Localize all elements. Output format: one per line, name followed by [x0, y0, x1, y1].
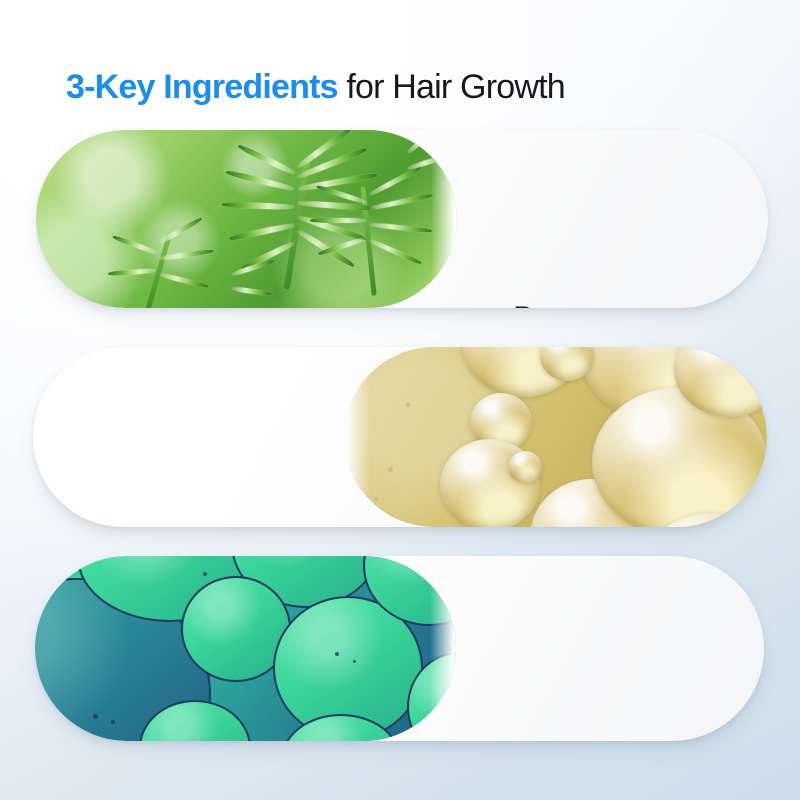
anagain-image — [35, 556, 456, 741]
title-rest: for Hair Growth — [338, 68, 565, 106]
rosemary-image — [36, 130, 457, 308]
infographic-poster: 3-Key Ingredients for Hair Growth — [0, 0, 800, 800]
rosemary-needles-overlay — [36, 130, 457, 308]
rosemary-copy: Rosemary improving scalp circulation and… — [514, 302, 726, 308]
redensyl-image — [344, 347, 767, 527]
rosemary-title: Rosemary — [514, 302, 726, 308]
page-title: 3-Key Ingredients for Hair Growth — [66, 68, 565, 107]
title-accent: 3-Key Ingredients — [66, 68, 338, 106]
ingredient-card-redensyl: Redensyl® reawakening hair follicles — [33, 347, 767, 527]
ingredient-card-anagain: Anagain prolong the hair growth phase, r… — [35, 556, 764, 741]
ingredient-card-rosemary: Rosemary improving scalp circulation and… — [36, 130, 768, 308]
